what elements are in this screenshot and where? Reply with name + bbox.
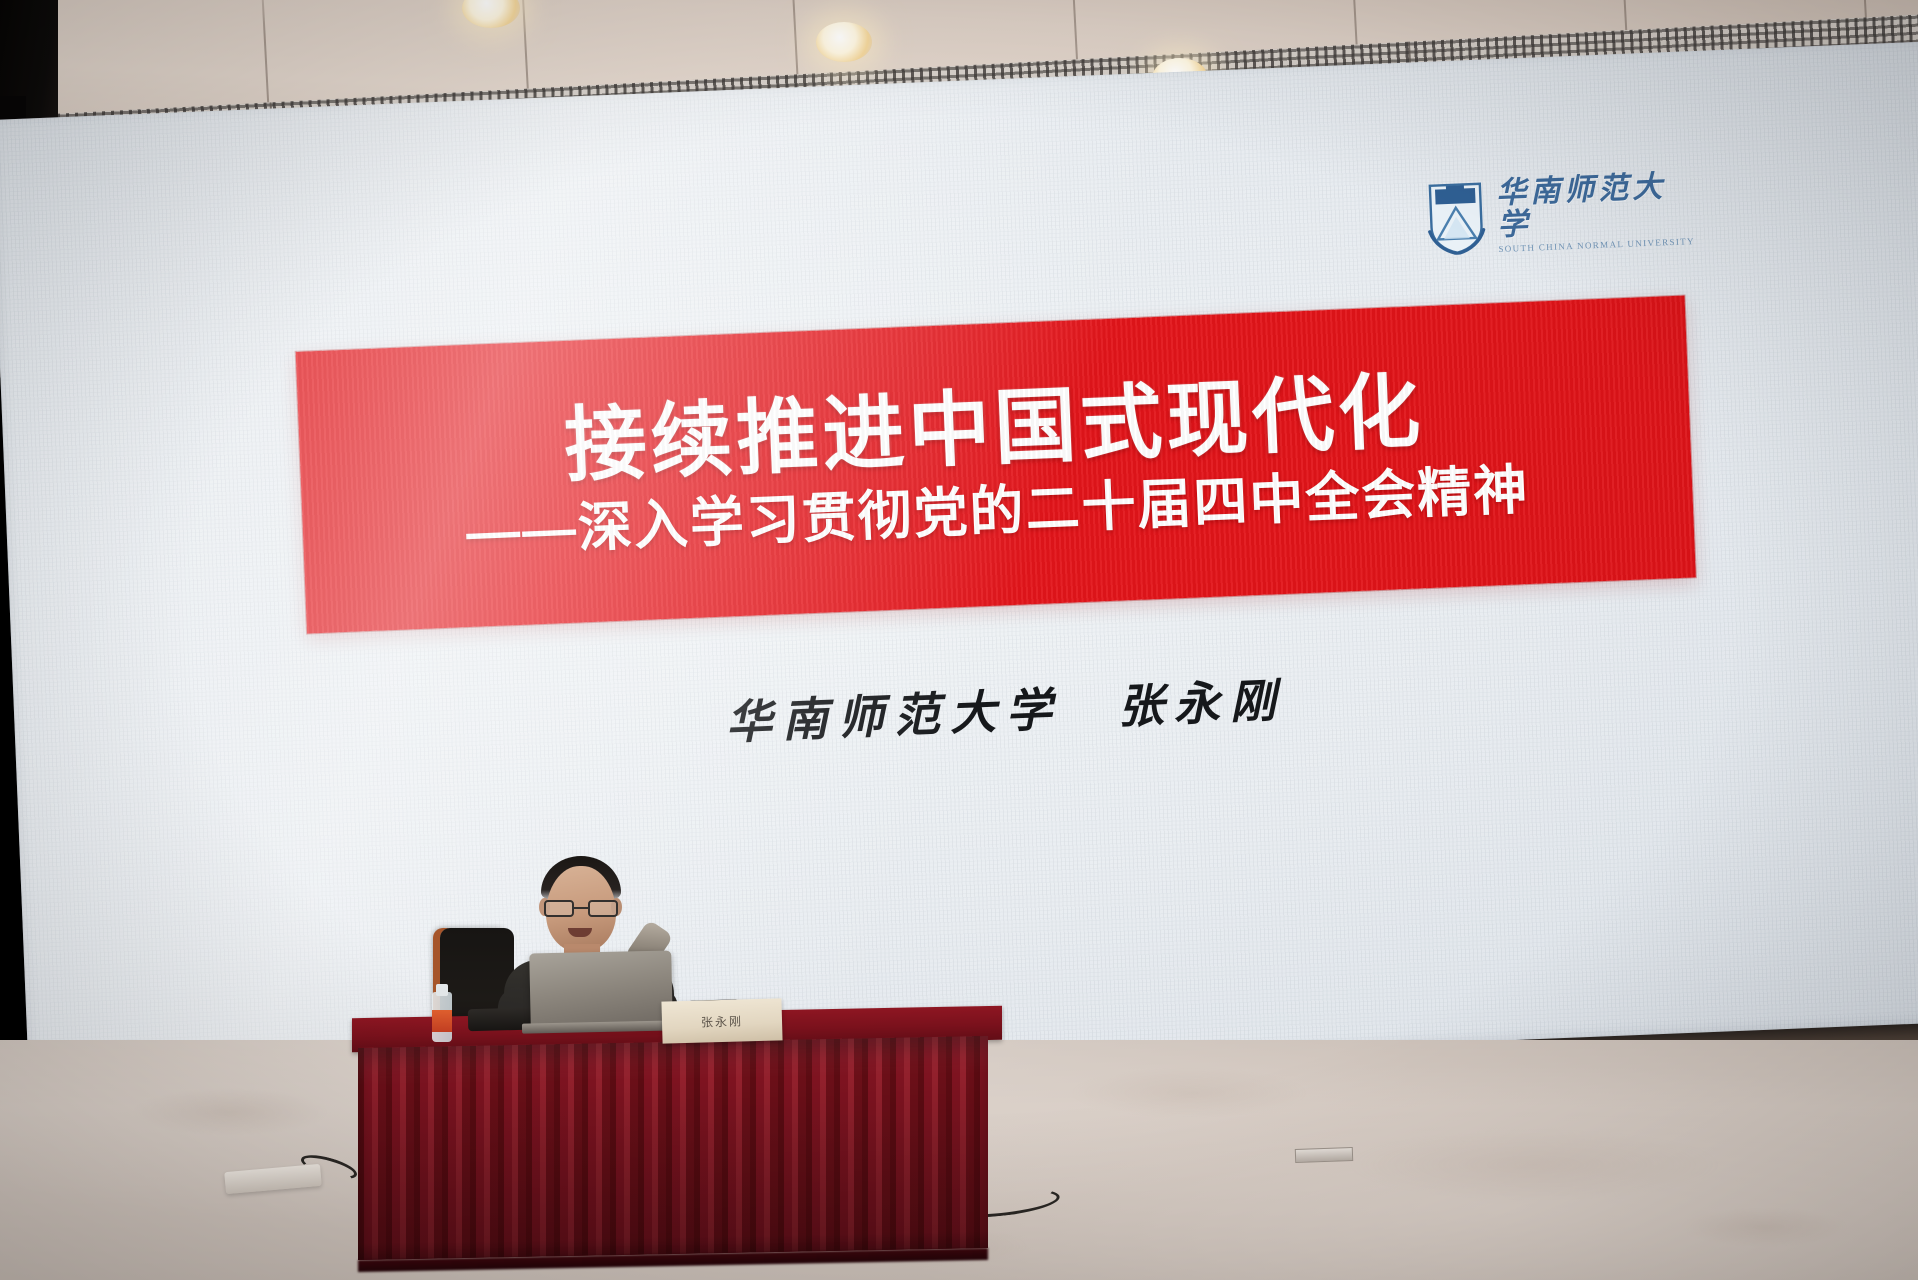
presenter-glasses: [544, 900, 620, 917]
laptop-screen[interactable]: [529, 951, 673, 1028]
lecture-hall-scene: 华南师范大学 SOUTH CHINA NORMAL UNIVERSITY 接续推…: [0, 0, 1918, 1280]
bottle-cap: [436, 984, 448, 996]
name-placard-text: 张永刚: [701, 1012, 743, 1030]
table-skirt: [358, 1036, 988, 1260]
name-placard: 张永刚: [661, 998, 782, 1043]
water-bottle: [432, 980, 452, 1042]
bottle-label: [432, 1010, 452, 1032]
stage-group: 张永刚: [0, 0, 1918, 1280]
speaker-table: [352, 1012, 1002, 1262]
